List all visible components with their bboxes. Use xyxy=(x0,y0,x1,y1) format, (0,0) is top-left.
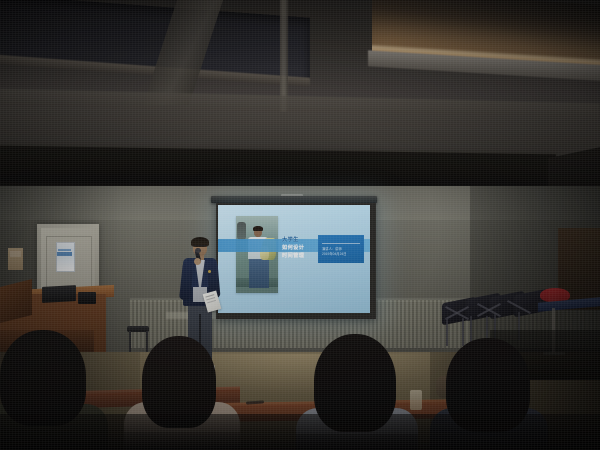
slide-title-line-1: 大学生 xyxy=(282,236,322,244)
audio-equipment xyxy=(42,285,76,303)
presenter-lapel-pin-icon xyxy=(208,270,211,273)
slide-photo-subject-hair xyxy=(253,226,263,231)
microphone-capsule-icon xyxy=(195,248,201,253)
projector-screen: 大学生 如何设计 时间管理 演讲人：讲师 2019年04月24日 xyxy=(218,205,370,313)
ceiling xyxy=(0,0,600,158)
presenter-hand xyxy=(194,258,201,265)
slide-title: 大学生 如何设计 时间管理 xyxy=(282,236,322,260)
slide-meta-line-2: 2019年04月24日 xyxy=(322,252,362,257)
slide-title-line-2: 如何设计 xyxy=(282,244,322,252)
slide-photo-bystander xyxy=(237,222,246,240)
slide-meta-rule xyxy=(322,243,360,244)
door-sign-accent-bar xyxy=(57,252,72,256)
wall-notice-board xyxy=(8,248,23,270)
slide-meta: 演讲人：讲师 2019年04月24日 xyxy=(322,247,362,256)
audio-equipment-secondary xyxy=(78,292,96,304)
door-sign-text-line xyxy=(58,249,71,251)
attendee-hair xyxy=(0,330,86,426)
door-sign xyxy=(56,242,75,272)
slide-photo xyxy=(236,216,278,293)
slide-photo-subject-trousers xyxy=(249,258,269,288)
slide-title-line-3: 时间管理 xyxy=(282,252,322,260)
lecture-hall-photo: 大学生 如何设计 时间管理 演讲人：讲师 2019年04月24日 xyxy=(0,0,600,450)
foreground-shadow xyxy=(0,414,600,450)
screen-housing xyxy=(211,196,377,203)
